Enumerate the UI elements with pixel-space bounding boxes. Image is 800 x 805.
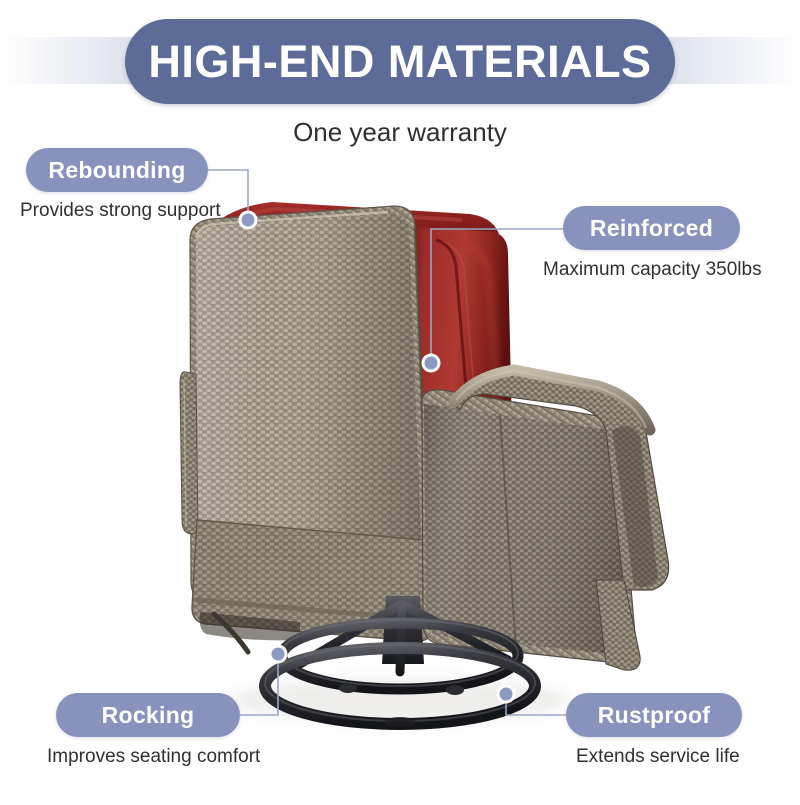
feature-pill-rustproof[interactable]: Rustproof <box>566 693 742 737</box>
product-image <box>0 0 800 800</box>
feature-caption-rustproof: Extends service life <box>576 746 740 768</box>
feature-pill-rocking[interactable]: Rocking <box>56 693 240 737</box>
feature-pill-reinforced[interactable]: Reinforced <box>563 206 740 250</box>
feature-label-reinforced: Reinforced <box>590 215 713 242</box>
feature-pill-rebounding[interactable]: Rebounding <box>26 148 208 192</box>
feature-caption-rocking: Improves seating comfort <box>47 746 260 768</box>
feature-label-rocking: Rocking <box>102 702 195 729</box>
feature-label-rustproof: Rustproof <box>598 702 711 729</box>
feature-label-rebounding: Rebounding <box>48 157 185 184</box>
feature-caption-reinforced: Maximum capacity 350lbs <box>543 259 762 281</box>
product-illustration <box>0 0 800 800</box>
chair-left-arm <box>180 372 198 534</box>
feature-caption-rebounding: Provides strong support <box>20 200 221 222</box>
